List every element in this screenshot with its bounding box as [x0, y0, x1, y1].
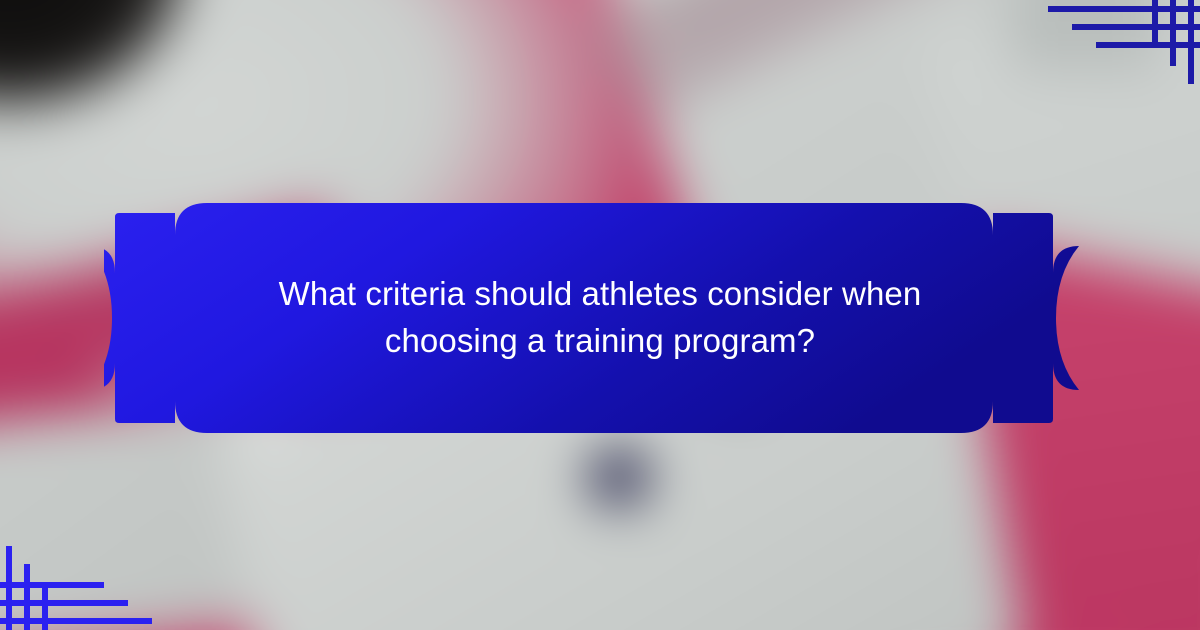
question-text: What criteria should athletes consider w…: [104, 196, 1096, 440]
phone-camera-lens: [588, 448, 650, 506]
question-line-1: What criteria should athletes consider w…: [279, 271, 922, 318]
laptop-key-block: [1010, 0, 1160, 70]
question-banner: What criteria should athletes consider w…: [104, 196, 1096, 440]
social-card-stage: What criteria should athletes consider w…: [0, 0, 1200, 630]
question-line-2: choosing a training program?: [385, 318, 815, 365]
